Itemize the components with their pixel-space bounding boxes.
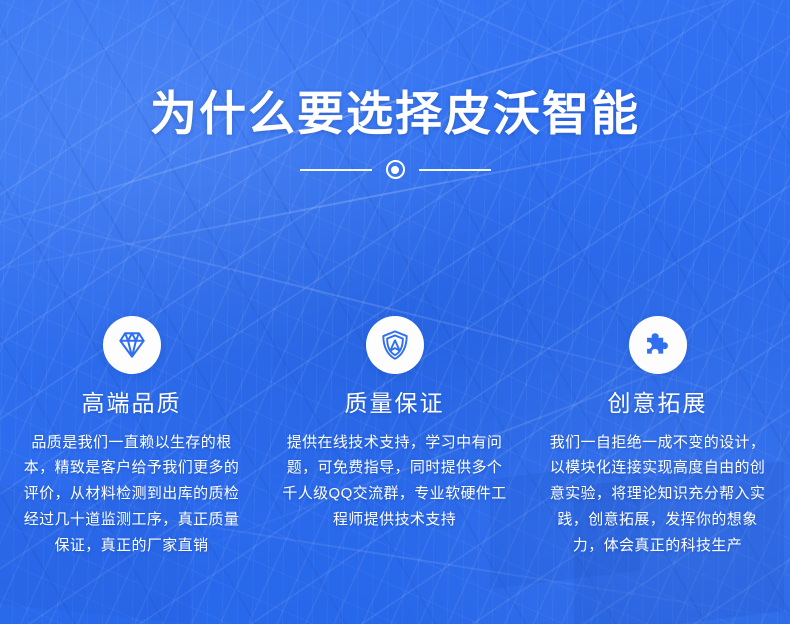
divider-dot-core [391, 166, 399, 174]
banner-content: 为什么要选择皮沃智能 [0, 0, 790, 624]
page-title: 为什么要选择皮沃智能 [0, 86, 790, 141]
feature-list: 高端品质 品质是我们一直赖以生存的根本，精致是客户给予我们更多的评价，从材料检测… [0, 316, 790, 559]
divider-dot-ring-icon [386, 160, 405, 179]
feature-item-innovation: 创意拓展 我们一自拒绝一成不变的设计，以模块化连接实现高度自由的创意实验，将理论… [526, 316, 789, 559]
feature-description: 提供在线技术支持，学习中有问题，可免费指导，同时提供多个千人级QQ交流群，专业软… [282, 430, 507, 533]
divider-rule-right [419, 169, 491, 171]
feature-description: 我们一自拒绝一成不变的设计，以模块化连接实现高度自由的创意实验，将理论知识充分帮… [545, 430, 770, 559]
feature-item-guarantee: 质量保证 提供在线技术支持，学习中有问题，可免费指导，同时提供多个千人级QQ交流… [263, 316, 526, 559]
feature-title: 创意拓展 [608, 390, 708, 418]
feature-item-quality: 高端品质 品质是我们一直赖以生存的根本，精致是客户给予我们更多的评价，从材料检测… [0, 316, 263, 559]
puzzle-piece-icon [629, 316, 687, 374]
diamond-icon [103, 316, 161, 374]
divider-rule-left [300, 169, 372, 171]
shield-icon [366, 316, 424, 374]
feature-title: 高端品质 [82, 390, 182, 418]
feature-title: 质量保证 [345, 390, 445, 418]
feature-description: 品质是我们一直赖以生存的根本，精致是客户给予我们更多的评价，从材料检测到出库的质… [19, 430, 244, 559]
title-divider [0, 160, 790, 179]
promo-banner: 为什么要选择皮沃智能 [0, 0, 790, 624]
